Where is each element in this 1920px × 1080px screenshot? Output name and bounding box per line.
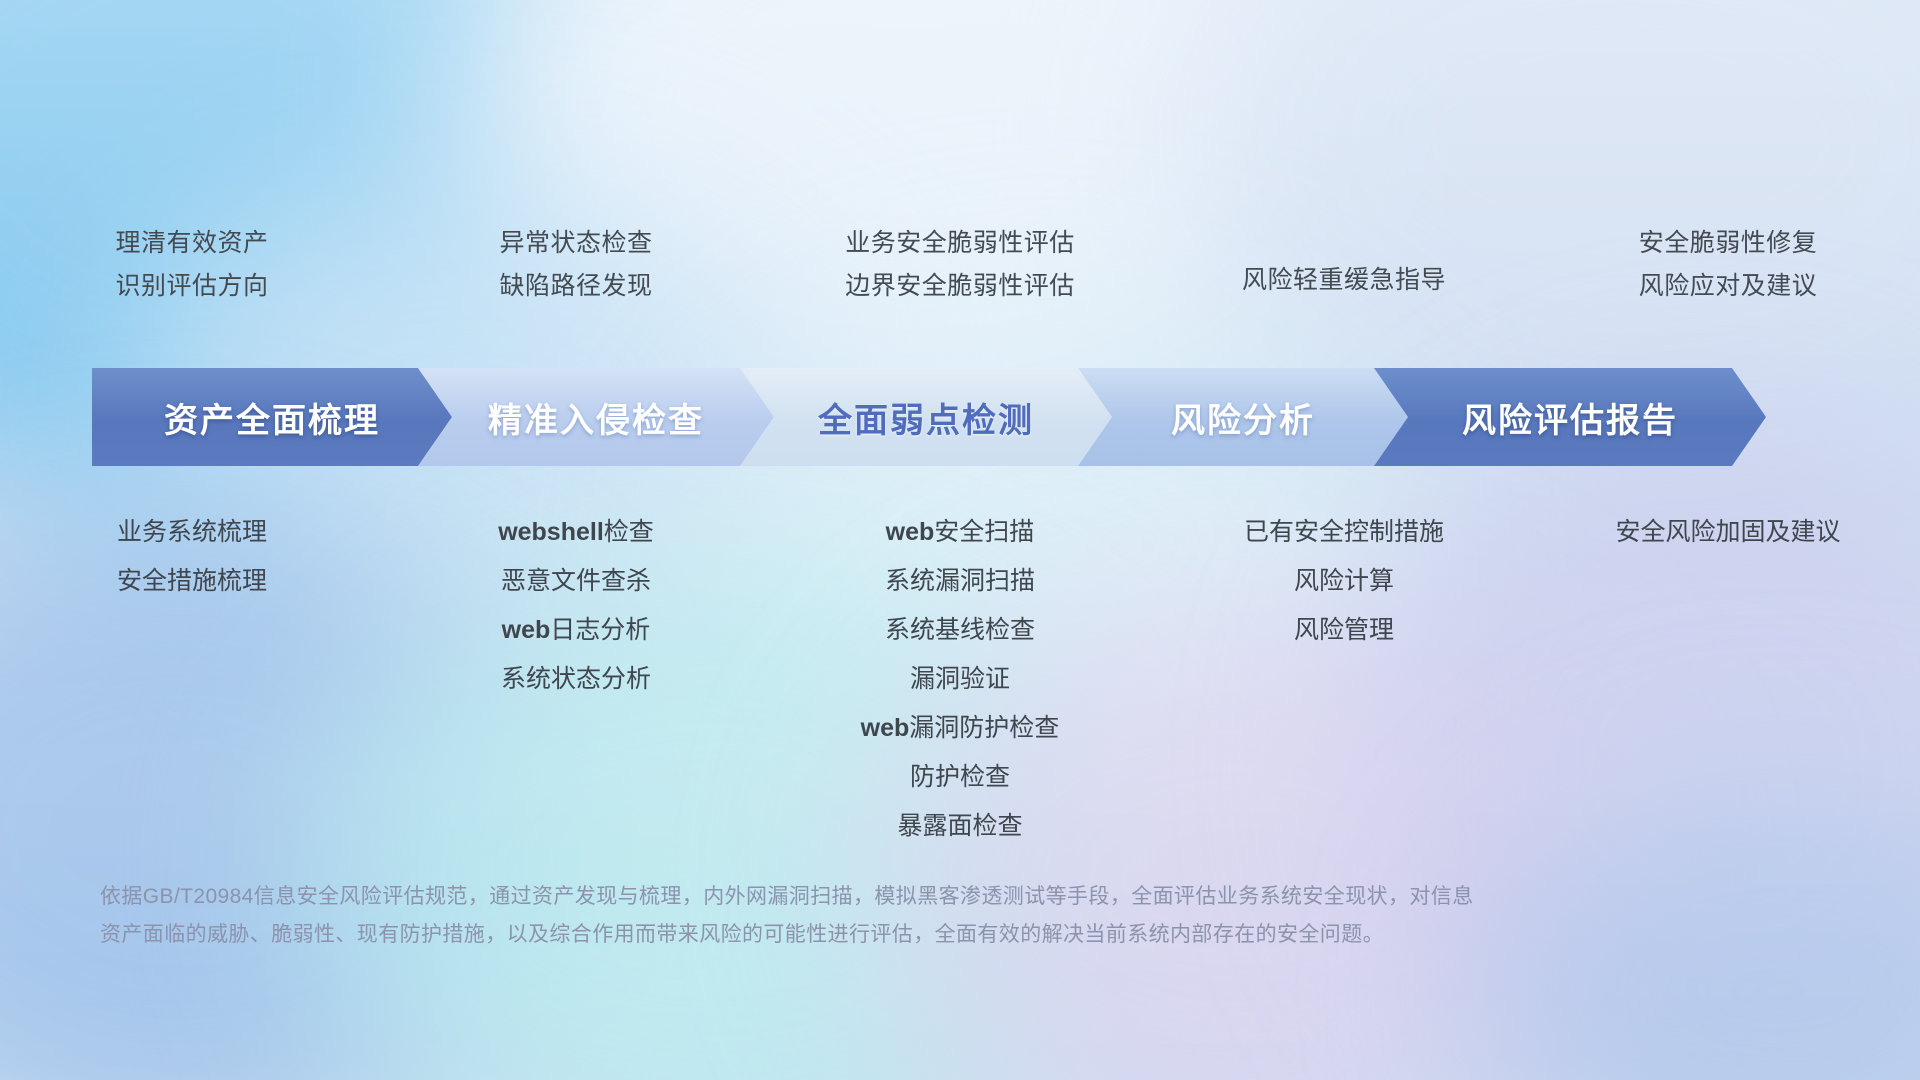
bottom-label-line: 系统状态分析: [501, 655, 651, 704]
bottom-label-line: 已有安全控制措施: [1244, 508, 1444, 557]
top-labels-asset-inventory: 理清有效资产 识别评估方向: [0, 228, 384, 338]
bottom-labels-asset-inventory: 业务系统梳理 安全措施梳理: [0, 508, 384, 851]
bottom-label-line: 漏洞验证: [910, 655, 1010, 704]
footer-description: 依据GB/T20984信息安全风险评估规范，通过资产发现与梳理，内外网漏洞扫描，…: [100, 878, 1720, 954]
top-label-line: 异常状态检查: [499, 228, 652, 259]
chevron-step-label: 精准入侵检查: [488, 393, 704, 442]
bottom-label-line: web日志分析: [502, 606, 651, 655]
top-labels-intrusion-check: 异常状态检查 缺陷路径发现: [384, 228, 768, 338]
top-label-row: 理清有效资产 识别评估方向 异常状态检查 缺陷路径发现 业务安全脆弱性评估 边界…: [0, 228, 1920, 338]
chevron-step-label: 资产全面梳理: [164, 393, 380, 442]
bottom-label-line: 暴露面检查: [897, 802, 1022, 851]
chevron-step-label: 风险评估报告: [1462, 393, 1678, 442]
top-labels-weakness-detection: 业务安全脆弱性评估 边界安全脆弱性评估: [768, 228, 1152, 338]
bottom-labels-weakness-detection: web安全扫描 系统漏洞扫描 系统基线检查 漏洞验证 web漏洞防护检查 防护检…: [768, 508, 1152, 851]
bottom-labels-risk-analysis: 已有安全控制措施 风险计算 风险管理: [1152, 508, 1536, 851]
bottom-label-line: 系统基线检查: [885, 606, 1035, 655]
bottom-label-line: 恶意文件查杀: [501, 557, 651, 606]
bottom-label-line: 风险管理: [1294, 606, 1394, 655]
footer-line-1: 依据GB/T20984信息安全风险评估规范，通过资产发现与梳理，内外网漏洞扫描，…: [100, 878, 1720, 916]
top-label-line: 理清有效资产: [115, 228, 268, 259]
top-labels-risk-report: 安全脆弱性修复 风险应对及建议: [1536, 228, 1920, 338]
top-label-line: 风险轻重缓急指导: [1242, 265, 1446, 296]
bottom-labels-intrusion-check: webshell检查 恶意文件查杀 web日志分析 系统状态分析: [384, 508, 768, 851]
chevron-step-label: 全面弱点检测: [818, 393, 1034, 442]
chevron-step-risk-report[interactable]: 风险评估报告: [1374, 368, 1766, 466]
bottom-label-line: web安全扫描: [886, 508, 1035, 557]
top-label-line: 边界安全脆弱性评估: [845, 271, 1075, 302]
process-chevron-band: 资产全面梳理 精准入侵检查 全面弱点检测 风险分析 风险评估报告: [92, 368, 1834, 466]
chevron-step-intrusion-check[interactable]: 精准入侵检查: [418, 368, 774, 466]
chevron-step-risk-analysis[interactable]: 风险分析: [1078, 368, 1408, 466]
top-label-line: 业务安全脆弱性评估: [845, 228, 1075, 259]
bottom-label-line: webshell检查: [498, 508, 654, 557]
chevron-step-asset-inventory[interactable]: 资产全面梳理: [92, 368, 452, 466]
footer-line-2: 资产面临的威胁、脆弱性、现有防护措施，以及综合作用而带来风险的可能性进行评估，全…: [100, 916, 1720, 954]
bottom-label-line: web漏洞防护检查: [861, 704, 1060, 753]
top-labels-risk-analysis: 风险轻重缓急指导: [1152, 228, 1536, 338]
bottom-label-line: 业务系统梳理: [117, 508, 267, 557]
chevron-step-weakness-detection[interactable]: 全面弱点检测: [740, 368, 1112, 466]
bottom-labels-risk-report: 安全风险加固及建议: [1536, 508, 1920, 851]
bottom-label-line: 安全风险加固及建议: [1615, 508, 1840, 557]
top-label-line: 识别评估方向: [115, 271, 268, 302]
bottom-label-line: 安全措施梳理: [117, 557, 267, 606]
bottom-label-row: 业务系统梳理 安全措施梳理 webshell检查 恶意文件查杀 web日志分析 …: [0, 508, 1920, 851]
top-label-line: 安全脆弱性修复: [1639, 228, 1818, 259]
chevron-step-label: 风险分析: [1171, 393, 1315, 442]
bottom-label-line: 风险计算: [1294, 557, 1394, 606]
top-label-line: 风险应对及建议: [1639, 271, 1818, 302]
top-label-line: 缺陷路径发现: [499, 271, 652, 302]
bottom-label-line: 防护检查: [910, 753, 1010, 802]
bottom-label-line: 系统漏洞扫描: [885, 557, 1035, 606]
